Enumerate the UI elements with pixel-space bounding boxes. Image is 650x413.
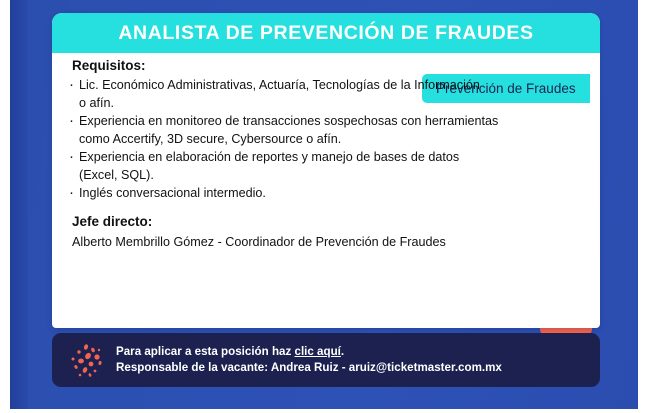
list-item: Experiencia en monitoreo de transaccione… [68,113,548,148]
list-item: Lic. Económico Administrativas, Actuaría… [68,77,548,112]
requirement-text-cont: como Accertify, 3D secure, Cybersource o… [79,131,548,149]
requirement-text-cont: (Excel, SQL). [79,167,548,185]
apply-prefix: Para aplicar a esta posición haz [116,345,295,358]
job-card: ANALISTA DE PREVENCIÓN DE FRAUDES Preven… [52,13,600,328]
direct-manager-block: Jefe directo: Alberto Membrillo Gómez - … [72,214,548,251]
direct-manager-name: Alberto Membrillo Gómez - Coordinador de… [72,233,548,251]
confetti-dots-icon [66,340,108,380]
requirements-heading: Requisitos: [72,58,548,73]
poster-background-left-edge [10,0,28,409]
apply-suffix: . [341,345,344,358]
requirement-text: Lic. Económico Administrativas, Actuaría… [79,78,480,92]
requirements-list: Lic. Económico Administrativas, Actuaría… [68,77,548,203]
list-item: Experiencia en elaboración de reportes y… [68,149,548,184]
footer-band: Para aplicar a esta posición haz clic aq… [52,333,600,387]
job-posting-poster: Palacio de los Deportes TM ANALISTA DE P… [0,0,650,413]
footer-text-block: Para aplicar a esta posición haz clic aq… [116,344,502,376]
responsible-line: Responsable de la vacante: Andrea Ruiz -… [116,360,502,376]
card-body: Requisitos: Lic. Económico Administrativ… [68,58,548,251]
card-header: ANALISTA DE PREVENCIÓN DE FRAUDES [52,13,600,53]
requirement-text: Inglés conversacional intermedio. [79,186,266,200]
page-title: ANALISTA DE PREVENCIÓN DE FRAUDES [118,22,533,45]
direct-manager-heading: Jefe directo: [72,214,548,229]
apply-line: Para aplicar a esta posición haz clic aq… [116,344,502,360]
list-item: Inglés conversacional intermedio. [68,185,548,203]
apply-link[interactable]: clic aquí [295,345,341,358]
footer-content: Para aplicar a esta posición haz clic aq… [66,333,502,387]
requirement-text: Experiencia en elaboración de reportes y… [79,150,459,164]
requirement-text: Experiencia en monitoreo de transaccione… [79,114,498,128]
requirement-text-cont: o afín. [79,95,548,113]
